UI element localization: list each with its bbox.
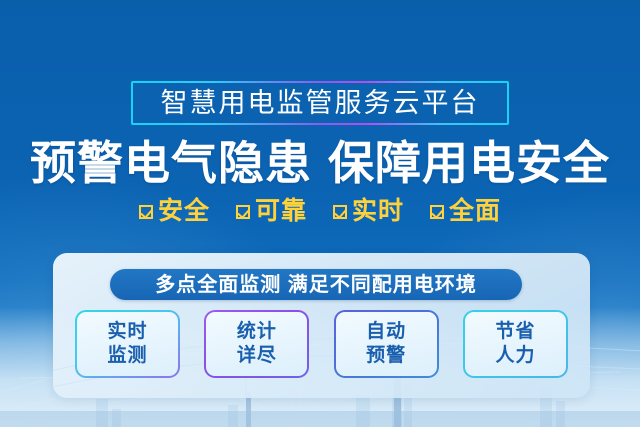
headline-part-2: 保障用电安全 — [328, 137, 610, 189]
feature-tile-line-1: 节省 — [495, 321, 535, 343]
checklist-item: 全面 — [430, 199, 501, 224]
checkbox-checked-icon — [430, 205, 444, 219]
checklist-item-label: 安全 — [158, 199, 210, 224]
feature-tile-line-2: 预警 — [366, 345, 406, 367]
checklist-item: 实时 — [333, 199, 404, 224]
feature-tile-line-2: 详尽 — [237, 345, 277, 367]
checklist-item: 可靠 — [236, 199, 307, 224]
feature-checklist: 安全 可靠 实时 全面 — [0, 199, 640, 224]
feature-tile-line-2: 监测 — [107, 345, 147, 367]
subtitle-inner: 智慧用电监管服务云平台 — [133, 83, 507, 123]
poster-banner: 智慧用电监管服务云平台 预警电气隐患保障用电安全 安全 可靠 实时 全面 — [0, 0, 640, 427]
checklist-item: 安全 — [139, 199, 210, 224]
subtitle-text: 智慧用电监管服务云平台 — [161, 90, 480, 117]
feature-tile-inner: 自动 预警 — [336, 312, 437, 376]
feature-tile-line-1: 实时 — [107, 321, 147, 343]
checkbox-checked-icon — [139, 205, 153, 219]
subtitle-frame: 智慧用电监管服务云平台 — [131, 81, 509, 125]
feature-tiles: 实时 监测 统计 详尽 自动 预警 节省 人力 — [75, 310, 568, 378]
checkbox-checked-icon — [333, 205, 347, 219]
headline-part-1: 预警电气隐患 — [30, 137, 312, 189]
page-title: 预警电气隐患保障用电安全 — [0, 138, 640, 190]
checkbox-checked-icon — [236, 205, 250, 219]
feature-tile-realtime-monitoring[interactable]: 实时 监测 — [75, 310, 180, 378]
feature-tile-line-1: 自动 — [366, 321, 406, 343]
feature-tile-line-1: 统计 — [237, 321, 277, 343]
feature-tile-automatic-alarm[interactable]: 自动 预警 — [334, 310, 439, 378]
feature-tile-inner: 节省 人力 — [465, 312, 566, 376]
feature-tile-inner: 实时 监测 — [77, 312, 178, 376]
feature-card: 多点全面监测 满足不同配用电环境 实时 监测 统计 详尽 自动 预警 — [53, 253, 590, 398]
checklist-item-label: 实时 — [352, 199, 404, 224]
feature-tile-save-manpower[interactable]: 节省 人力 — [463, 310, 568, 378]
checklist-item-label: 全面 — [449, 199, 501, 224]
checklist-item-label: 可靠 — [255, 199, 307, 224]
feature-tile-inner: 统计 详尽 — [206, 312, 307, 376]
card-headline-text: 多点全面监测 满足不同配用电环境 — [155, 275, 477, 295]
feature-tile-detailed-statistics[interactable]: 统计 详尽 — [204, 310, 309, 378]
feature-tile-line-2: 人力 — [495, 345, 535, 367]
card-headline-pill: 多点全面监测 满足不同配用电环境 — [110, 269, 522, 300]
